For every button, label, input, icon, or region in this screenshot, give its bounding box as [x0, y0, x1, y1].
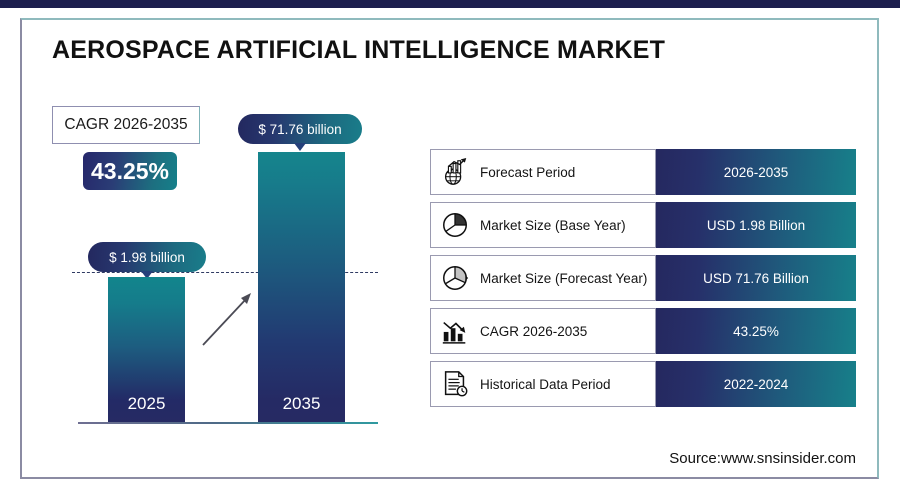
source-attribution: Source:www.snsinsider.com	[669, 450, 856, 467]
table-row-label: CAGR 2026-2035	[480, 324, 587, 339]
table-row-value: USD 1.98 Billion	[656, 202, 856, 248]
cagr-value-text: 43.25%	[91, 158, 169, 185]
table-row-label: Forecast Period	[480, 165, 575, 180]
bar-2025: 2025	[108, 277, 185, 422]
pie-chart-icon	[440, 210, 470, 240]
chart-baseline-axis	[78, 422, 378, 424]
cagr-label-text: CAGR 2026-2035	[64, 116, 187, 134]
table-row-value: 2022-2024	[656, 361, 856, 407]
table-row-label-cell: Market Size (Base Year)	[430, 202, 656, 248]
table-row-label: Market Size (Base Year)	[480, 218, 626, 233]
metrics-table: Forecast Period 2026-2035 Market Size (B…	[430, 149, 856, 414]
table-row-label-cell: Historical Data Period	[430, 361, 656, 407]
table-row-label-cell: Forecast Period	[430, 149, 656, 195]
table-row-value: 43.25%	[656, 308, 856, 354]
table-row: CAGR 2026-2035 43.25%	[430, 308, 856, 354]
infographic-canvas: AEROSPACE ARTIFICIAL INTELLIGENCE MARKET…	[0, 0, 900, 500]
table-row: Market Size (Base Year) USD 1.98 Billion	[430, 202, 856, 248]
globe-growth-chart-icon	[440, 157, 470, 187]
growth-arrow-icon	[195, 285, 265, 355]
callout-2025: $ 1.98 billion	[88, 242, 206, 272]
table-row: Market Size (Forecast Year) USD 71.76 Bi…	[430, 255, 856, 301]
table-row-value: 2026-2035	[656, 149, 856, 195]
callout-2035: $ 71.76 billion	[238, 114, 362, 144]
table-row: Forecast Period 2026-2035	[430, 149, 856, 195]
table-row-label: Historical Data Period	[480, 377, 611, 392]
cagr-value-badge: 43.25%	[83, 152, 177, 190]
bar-label-2025: 2025	[108, 394, 185, 414]
table-row: Historical Data Period 2022-2024	[430, 361, 856, 407]
bar-chart-decline-icon	[440, 316, 470, 346]
document-clock-icon	[440, 369, 470, 399]
bar-label-2035: 2035	[258, 394, 345, 414]
cagr-label-box: CAGR 2026-2035	[52, 106, 200, 144]
page-title: AEROSPACE ARTIFICIAL INTELLIGENCE MARKET	[52, 36, 665, 65]
top-accent-band	[0, 0, 900, 8]
table-row-label-cell: CAGR 2026-2035	[430, 308, 656, 354]
table-row-label-cell: Market Size (Forecast Year)	[430, 255, 656, 301]
bar-2035: 2035	[258, 152, 345, 422]
table-row-label: Market Size (Forecast Year)	[480, 271, 647, 286]
callout-2035-text: $ 71.76 billion	[258, 122, 341, 137]
pie-chart-segments-icon	[440, 263, 470, 293]
table-row-value: USD 71.76 Billion	[656, 255, 856, 301]
callout-2025-text: $ 1.98 billion	[109, 250, 185, 265]
